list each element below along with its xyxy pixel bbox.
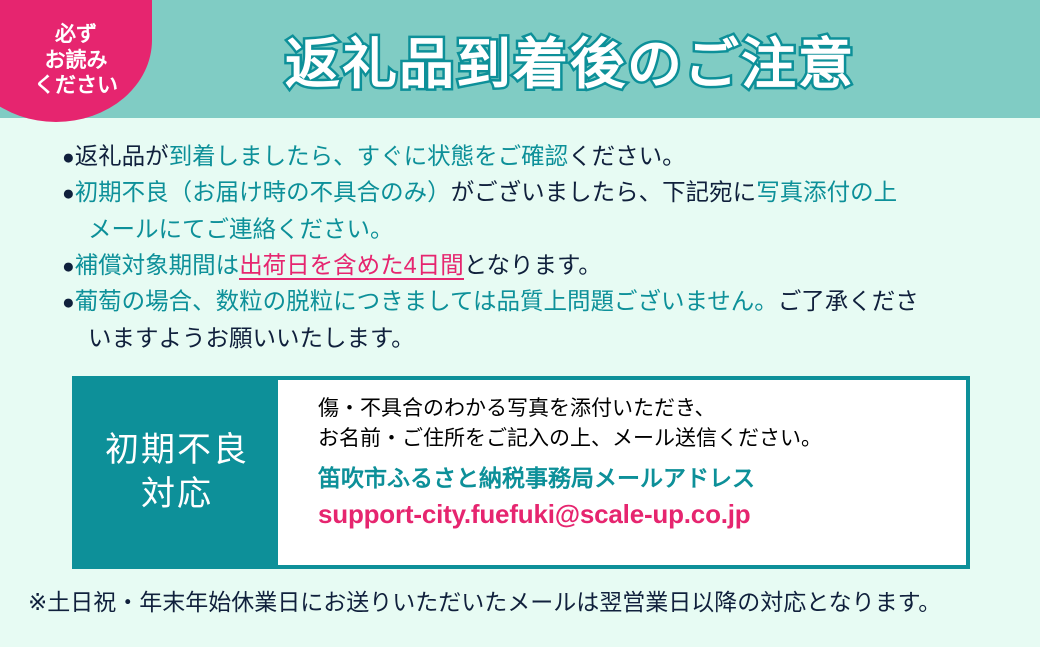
bullet-text-segment: 葡萄の場合、数粒の脱粒につきましては <box>75 288 497 314</box>
notice-bullet-item: ●補償対象期間は出荷日を含めた4日間となります。 <box>62 249 1030 282</box>
page-title: 返礼品到着後のご注意 <box>0 0 1040 118</box>
notice-bullet-item: ●葡萄の場合、数粒の脱粒につきましては品質上問題ございません。ご了承くださ <box>62 285 1030 318</box>
notice-bullet-list: ●返礼品が到着しましたら、すぐに状態をご確認ください。●初期不良（お届け時の不具… <box>62 140 1030 358</box>
bullet-dot-icon: ● <box>62 291 75 314</box>
defect-response-box: 初期不良 対応 傷・不具合のわかる写真を添付いただき、 お名前・ご住所をご記入の… <box>72 376 970 569</box>
bullet-continuation-text: いますようお願いいたします。 <box>62 322 1030 355</box>
bullet-text-segment: 返礼品が <box>75 143 169 169</box>
bullet-text-segment: ください。 <box>568 143 686 169</box>
notice-bullet-continuation: いますようお願いいたします。 <box>62 322 1030 355</box>
bullet-dot-icon: ● <box>62 146 75 169</box>
bullet-text-segment: いますようお願いいたします。 <box>88 325 415 351</box>
bullet-text-segment: ご了承くださ <box>778 288 919 314</box>
notice-bullet-item: ●返礼品が到着しましたら、すぐに状態をご確認ください。 <box>62 140 1030 173</box>
notice-bullet-continuation: メールにてご連絡ください。 <box>62 213 1030 246</box>
instruction-line-2: お名前・ご住所をご記入の上、メール送信ください。 <box>318 424 966 454</box>
email-address-label: 笛吹市ふるさと納税事務局メールアドレス <box>318 463 966 494</box>
bullet-text-segment: がございましたら、下記宛に <box>451 179 757 205</box>
footer-note: ※土日祝・年末年始休業日にお送りいただいたメールは翌営業日以降の対応となります。 <box>28 583 1028 617</box>
defect-response-content: 傷・不具合のわかる写真を添付いただき、 お名前・ご住所をご記入の上、メール送信く… <box>278 380 966 565</box>
defect-label-line-2: 対応 <box>141 473 213 517</box>
bullet-text-segment: 写真添付の上 <box>756 179 897 205</box>
notice-poster: { "colors": { "background": "#e7fbf3", "… <box>0 0 1040 647</box>
bullet-dot-icon: ● <box>62 182 75 205</box>
support-email-address[interactable]: support-city.fuefuki@scale-up.co.jp <box>318 498 966 532</box>
bullet-text-segment: 補償対象期間は <box>75 252 240 278</box>
bullet-text-segment: ございません。 <box>614 288 778 314</box>
bullet-continuation-text: メールにてご連絡ください。 <box>62 213 1030 246</box>
defect-response-label: 初期不良 対応 <box>76 380 278 565</box>
bullet-text-segment: となります。 <box>464 252 602 278</box>
bullet-text-segment: 出荷日を含めた4日間 <box>239 252 464 280</box>
bullet-text-segment: 初期不良（お届け時の不具合のみ） <box>75 179 451 205</box>
notice-bullet-item: ●初期不良（お届け時の不具合のみ）がございましたら、下記宛に写真添付の上 <box>62 176 1030 209</box>
defect-label-line-1: 初期不良 <box>105 429 249 473</box>
instruction-line-1: 傷・不具合のわかる写真を添付いただき、 <box>318 394 966 424</box>
bullet-text-segment: 到着しましたら、すぐに状態をご確認 <box>169 143 569 169</box>
bullet-text-segment: メールにてご連絡ください。 <box>88 216 394 242</box>
bullet-text-segment: 品質上問題 <box>497 288 615 314</box>
bullet-dot-icon: ● <box>62 255 75 278</box>
